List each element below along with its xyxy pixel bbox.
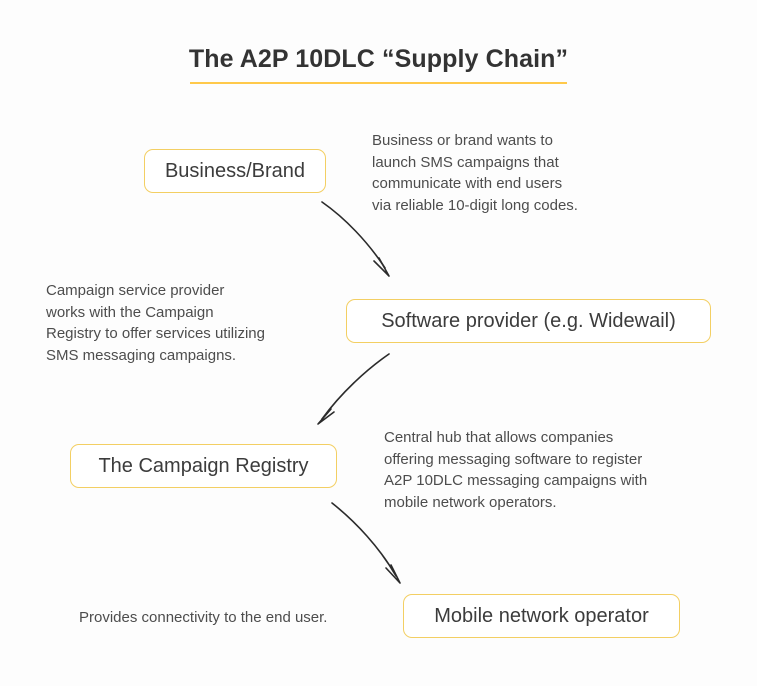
note-mobile-network-operator: Provides connectivity to the end user. — [79, 607, 379, 629]
node-mobile-network-operator[interactable]: Mobile network operator — [403, 594, 680, 638]
note-campaign-service-provider: Campaign service provider works with the… — [46, 280, 336, 366]
node-campaign-registry-label: The Campaign Registry — [98, 456, 308, 476]
node-software-provider-label: Software provider (e.g. Widewail) — [381, 311, 676, 331]
node-software-provider[interactable]: Software provider (e.g. Widewail) — [346, 299, 711, 343]
arrow-registry-to-operator — [332, 503, 400, 583]
page-title: The A2P 10DLC “Supply Chain” — [189, 44, 568, 74]
node-campaign-registry[interactable]: The Campaign Registry — [70, 444, 337, 488]
diagram-canvas: The A2P 10DLC “Supply Chain” Business/Br… — [0, 0, 757, 686]
node-mobile-network-operator-label: Mobile network operator — [434, 606, 649, 626]
note-business-brand: Business or brand wants to launch SMS ca… — [372, 130, 642, 216]
diagram-title: The A2P 10DLC “Supply Chain” — [0, 44, 757, 74]
node-business-brand[interactable]: Business/Brand — [144, 149, 326, 193]
node-business-brand-label: Business/Brand — [165, 161, 305, 181]
title-underline-rule — [190, 82, 567, 84]
note-central-hub: Central hub that allows companies offeri… — [384, 427, 696, 513]
